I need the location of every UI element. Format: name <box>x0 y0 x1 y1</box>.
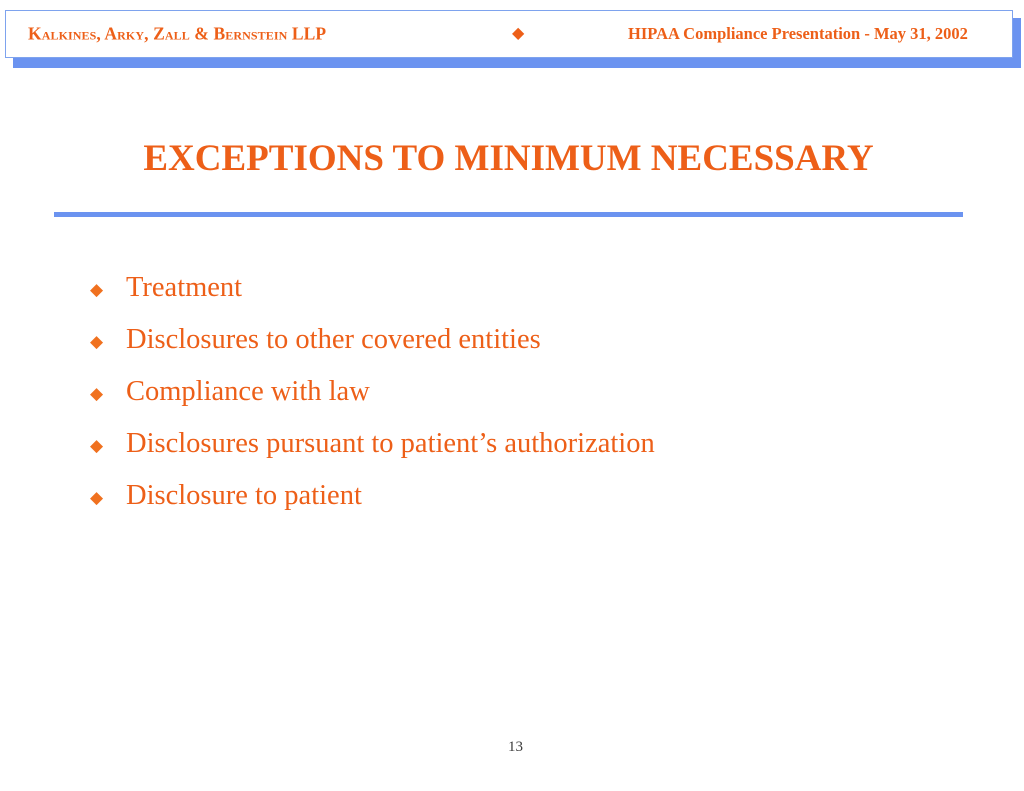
page-number: 13 <box>0 738 1024 756</box>
bullet-list: ◆ Treatment ◆ Disclosures to other cover… <box>90 262 970 522</box>
list-item-label: Treatment <box>126 271 242 305</box>
diamond-bullet-icon: ◆ <box>90 383 126 402</box>
list-item: ◆ Disclosures to other covered entities <box>90 314 970 366</box>
header-box: Kalkines, Arky, Zall & Bernstein LLP ◆ H… <box>5 10 1013 58</box>
presentation-title: HIPAA Compliance Presentation - May 31, … <box>628 24 968 44</box>
list-item: ◆ Treatment <box>90 262 970 314</box>
firm-name-text: Kalkines, Arky, Zall & Bernstein <box>28 24 287 44</box>
list-item-label: Compliance with law <box>126 375 370 409</box>
slide-header: Kalkines, Arky, Zall & Bernstein LLP ◆ H… <box>0 0 1024 80</box>
slide-canvas: Kalkines, Arky, Zall & Bernstein LLP ◆ H… <box>0 0 1024 791</box>
diamond-bullet-icon: ◆ <box>90 435 126 454</box>
list-item: ◆ Disclosure to patient <box>90 470 970 522</box>
list-item: ◆ Compliance with law <box>90 366 970 418</box>
title-divider <box>54 212 963 217</box>
firm-name-suffix: LLP <box>287 24 326 44</box>
list-item-label: Disclosures to other covered entities <box>126 323 541 357</box>
diamond-bullet-icon: ◆ <box>90 279 126 298</box>
diamond-separator-icon: ◆ <box>512 26 524 42</box>
page-title: EXCEPTIONS TO MINIMUM NECESSARY <box>54 137 963 181</box>
firm-name: Kalkines, Arky, Zall & Bernstein LLP <box>28 24 326 45</box>
diamond-bullet-icon: ◆ <box>90 331 126 350</box>
list-item-label: Disclosures pursuant to patient’s author… <box>126 427 655 461</box>
diamond-bullet-icon: ◆ <box>90 487 126 506</box>
list-item-label: Disclosure to patient <box>126 479 362 513</box>
list-item: ◆ Disclosures pursuant to patient’s auth… <box>90 418 970 470</box>
